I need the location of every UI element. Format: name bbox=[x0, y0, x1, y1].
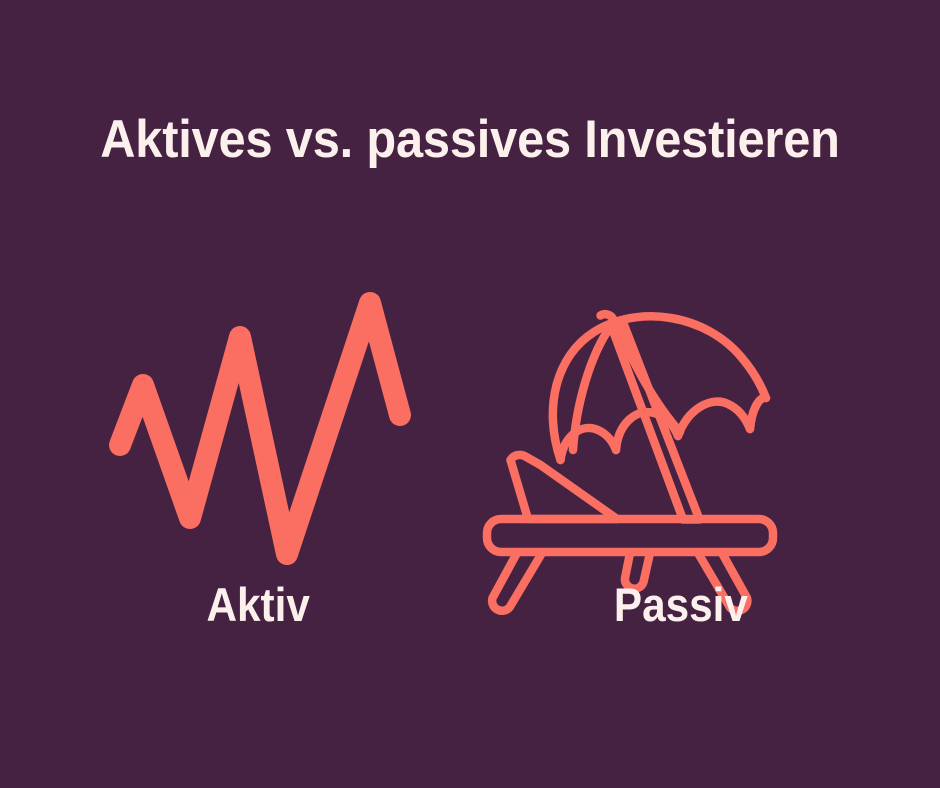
umbrella-scallop-1 bbox=[561, 428, 617, 460]
volatile-zigzag-line-icon bbox=[50, 280, 470, 580]
column-label-active: Aktiv bbox=[69, 576, 447, 632]
comparison-column-active: Aktiv bbox=[50, 280, 470, 650]
slide-canvas: Aktives vs. passives Investieren Aktiv bbox=[0, 0, 940, 788]
comparison-column-passive: Passiv bbox=[470, 280, 890, 650]
passive-icon-stage bbox=[470, 280, 890, 580]
lounger-seat-bar bbox=[487, 519, 773, 552]
umbrella-scallop-4 bbox=[750, 398, 766, 429]
active-icon-stage bbox=[50, 280, 470, 580]
beach-umbrella-lounge-chair-icon bbox=[470, 280, 890, 580]
lounger-backrest bbox=[511, 455, 618, 519]
umbrella-scallop-3 bbox=[678, 402, 750, 436]
zigzag-path bbox=[120, 303, 400, 554]
page-title: Aktives vs. passives Investieren bbox=[38, 108, 903, 170]
column-label-passive: Passiv bbox=[492, 576, 870, 632]
